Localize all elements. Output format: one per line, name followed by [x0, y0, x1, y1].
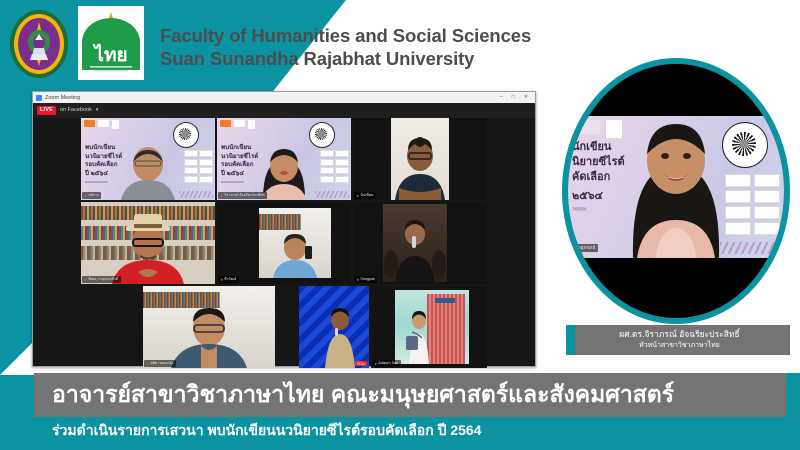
participant-nameplate: ● Adisorn Sao [372, 360, 401, 367]
avatar [611, 116, 741, 258]
mic-muted-icon: ● [147, 362, 149, 366]
zoom-app-icon [36, 95, 42, 101]
vbg-subline: ๒๕๕๕๕๕๕๕๕ [221, 180, 244, 185]
participant-name: Songpob [360, 278, 374, 282]
minimize-icon[interactable]: – [500, 95, 503, 100]
mic-muted-icon: ● [85, 194, 87, 198]
maximize-icon[interactable]: □ [512, 95, 515, 100]
close-icon[interactable]: ✕ [524, 95, 528, 100]
participant-nameplate: ● นักเขียน [354, 192, 376, 199]
slide-canvas: ไทย Faculty of Humanities and Social Sci… [0, 0, 800, 450]
participant-video [143, 286, 275, 368]
portrait-ring: นักเขียน นิยายซีไรต์ คัดเลือก ๒๕๖๔ »»»» … [562, 58, 790, 324]
header-title: Faculty of Humanities and Social Science… [160, 24, 590, 70]
university-crest-icon [8, 8, 70, 80]
mic-muted-icon: ● [375, 362, 377, 366]
mic-muted-icon: ● [221, 278, 223, 282]
page-title: อาจารย์สาขาวิชาภาษาไทย คณะมนุษยศาสตร์และ… [34, 377, 674, 413]
speaker-role: หัวหน้าสาขาวิชาภาษาไทย [575, 340, 784, 351]
participant-nameplate: ● ธีรวัฒน์ [218, 276, 239, 283]
tedx-watermark: TEDx [355, 361, 367, 366]
portrait-virtual-background: นักเขียน นิยายซีไรต์ คัดเลือก ๒๕๖๔ »»»» … [568, 116, 784, 258]
table-row[interactable]: ● อุทิศ เหมอะมัน [143, 286, 275, 368]
participant-name: อุทิศ เหมอะมัน [150, 362, 173, 366]
table-row[interactable]: ● นักเขียน [353, 118, 487, 200]
participant-name: จิราภรณ์ อัจฉริยะประสิทธิ์ [224, 194, 264, 198]
participant-name: ธีรวัฒน์ [224, 278, 236, 282]
zoom-window-title: Zoom Meeting [45, 95, 80, 101]
mic-muted-icon: ● [357, 194, 359, 198]
table-row[interactable]: ● พิษณุ กาญจนะศักดิ์ [81, 202, 215, 284]
vbg-sponsor-grid [184, 150, 214, 183]
speaker-name: ผศ.ดร.จิราภรณ์ อัจฉริยะประสิทธิ์ [575, 329, 784, 340]
participant-nameplate: ● อุทิศ เหมอะมัน [144, 360, 176, 367]
sea-write-award-seal-icon [173, 122, 199, 148]
participant-nameplate: ● พิษณุ กาญจนะศักดิ์ [82, 276, 121, 283]
house-sign [435, 298, 455, 303]
header-title-line1: Faculty of Humanities and Social Science… [160, 24, 590, 47]
live-badge: LIVE [37, 106, 56, 115]
participant-name: นักเขียน [360, 194, 373, 198]
table-row[interactable]: TEDx [299, 286, 369, 368]
portrait-overlay-year: ๒๕๖๔ [572, 186, 603, 204]
participant-video [391, 118, 449, 200]
participant-nameplate: ● อธิการ [82, 192, 101, 199]
vbg-subline: ๒๕๕๕๕๕๕๕๕ [85, 180, 108, 185]
table-row[interactable]: พบนักเขียน นวนิยายซีไรต์ รอบคัดเลือก ปี … [217, 118, 351, 200]
chevron-down-icon[interactable]: ▾ [96, 108, 99, 113]
letterbox-bottom [568, 258, 784, 318]
vbg-logo-strip [84, 120, 119, 129]
vbg-sponsor-grid [320, 150, 350, 183]
participant-video [259, 208, 331, 278]
table-row[interactable]: ● Adisorn Sao [371, 286, 487, 368]
mic-muted-icon: ● [221, 194, 223, 198]
caption-text: ผศ.ดร.จิราภรณ์ อัจฉริยะประสิทธิ์ หัวหน้า… [575, 329, 790, 351]
table-row[interactable]: พบนักเขียน นวนิยายซีไรต์ รอบคัดเลือก ปี … [81, 118, 215, 200]
mic-muted-icon: ● [357, 278, 359, 282]
portrait-name-tag: raprasit [574, 244, 598, 252]
participant-name: พิษณุ กาญจนะศักดิ์ [88, 278, 118, 282]
svg-text:ไทย: ไทย [92, 43, 127, 66]
zoom-participant-grid: พบนักเขียน นวนิยายซีไรต์ รอบคัดเลือก ปี … [33, 118, 535, 366]
mic-muted-icon: ● [85, 278, 87, 282]
table-row[interactable]: ● Songpob [353, 202, 487, 284]
thai-language-logo-icon: ไทย [78, 6, 144, 80]
vbg-logo-strip [220, 120, 255, 129]
avatar [100, 212, 196, 284]
participant-video [383, 204, 447, 282]
participant-name: อธิการ [88, 194, 98, 198]
speaker-portrait: นักเขียน นิยายซีไรต์ คัดเลือก ๒๕๖๔ »»»» … [562, 58, 790, 324]
participant-nameplate: ● จิราภรณ์ อัจฉริยะประสิทธิ์ [218, 192, 267, 199]
portrait-video-frame: นักเขียน นิยายซีไรต์ คัดเลือก ๒๕๖๔ »»»» … [568, 64, 784, 318]
footer-title-bar: อาจารย์สาขาวิชาภาษาไทย คณะมนุษยศาสตร์และ… [34, 373, 786, 417]
letterbox-top [568, 64, 784, 116]
header-title-line2: Suan Sunandha Rajabhat University [160, 47, 590, 70]
zoom-live-toolbar: LIVE on Facebook ▾ [33, 103, 535, 118]
zoom-meeting-window[interactable]: Zoom Meeting – □ ✕ LIVE on Facebook ▾ พบ… [32, 91, 536, 367]
avatar [391, 136, 449, 200]
participant-nameplate: ● Songpob [354, 276, 377, 283]
avatar [402, 310, 436, 364]
zoom-titlebar[interactable]: Zoom Meeting – □ ✕ [33, 92, 535, 103]
vbg-stripes [179, 191, 213, 198]
participant-name: Adisorn Sao [378, 362, 398, 366]
table-row[interactable]: ● ธีรวัฒน์ [217, 202, 351, 284]
caption-accent-bar [566, 325, 575, 355]
portrait-overlay-arrows: »»»» [572, 204, 586, 213]
live-destination-label[interactable]: on Facebook [60, 108, 92, 114]
window-controls[interactable]: – □ ✕ [500, 95, 532, 100]
avatar [113, 146, 183, 200]
participant-video [395, 290, 469, 364]
avatar [161, 306, 257, 368]
avatar [267, 234, 323, 278]
avatar [317, 306, 363, 368]
page-subtitle: ร่วมดำเนินรายการเสวนา พบนักเขียนนวนิยายซ… [52, 420, 482, 442]
avatar [383, 216, 447, 282]
speaker-caption: ผศ.ดร.จิราภรณ์ อัจฉริยะประสิทธิ์ หัวหน้า… [566, 325, 790, 355]
